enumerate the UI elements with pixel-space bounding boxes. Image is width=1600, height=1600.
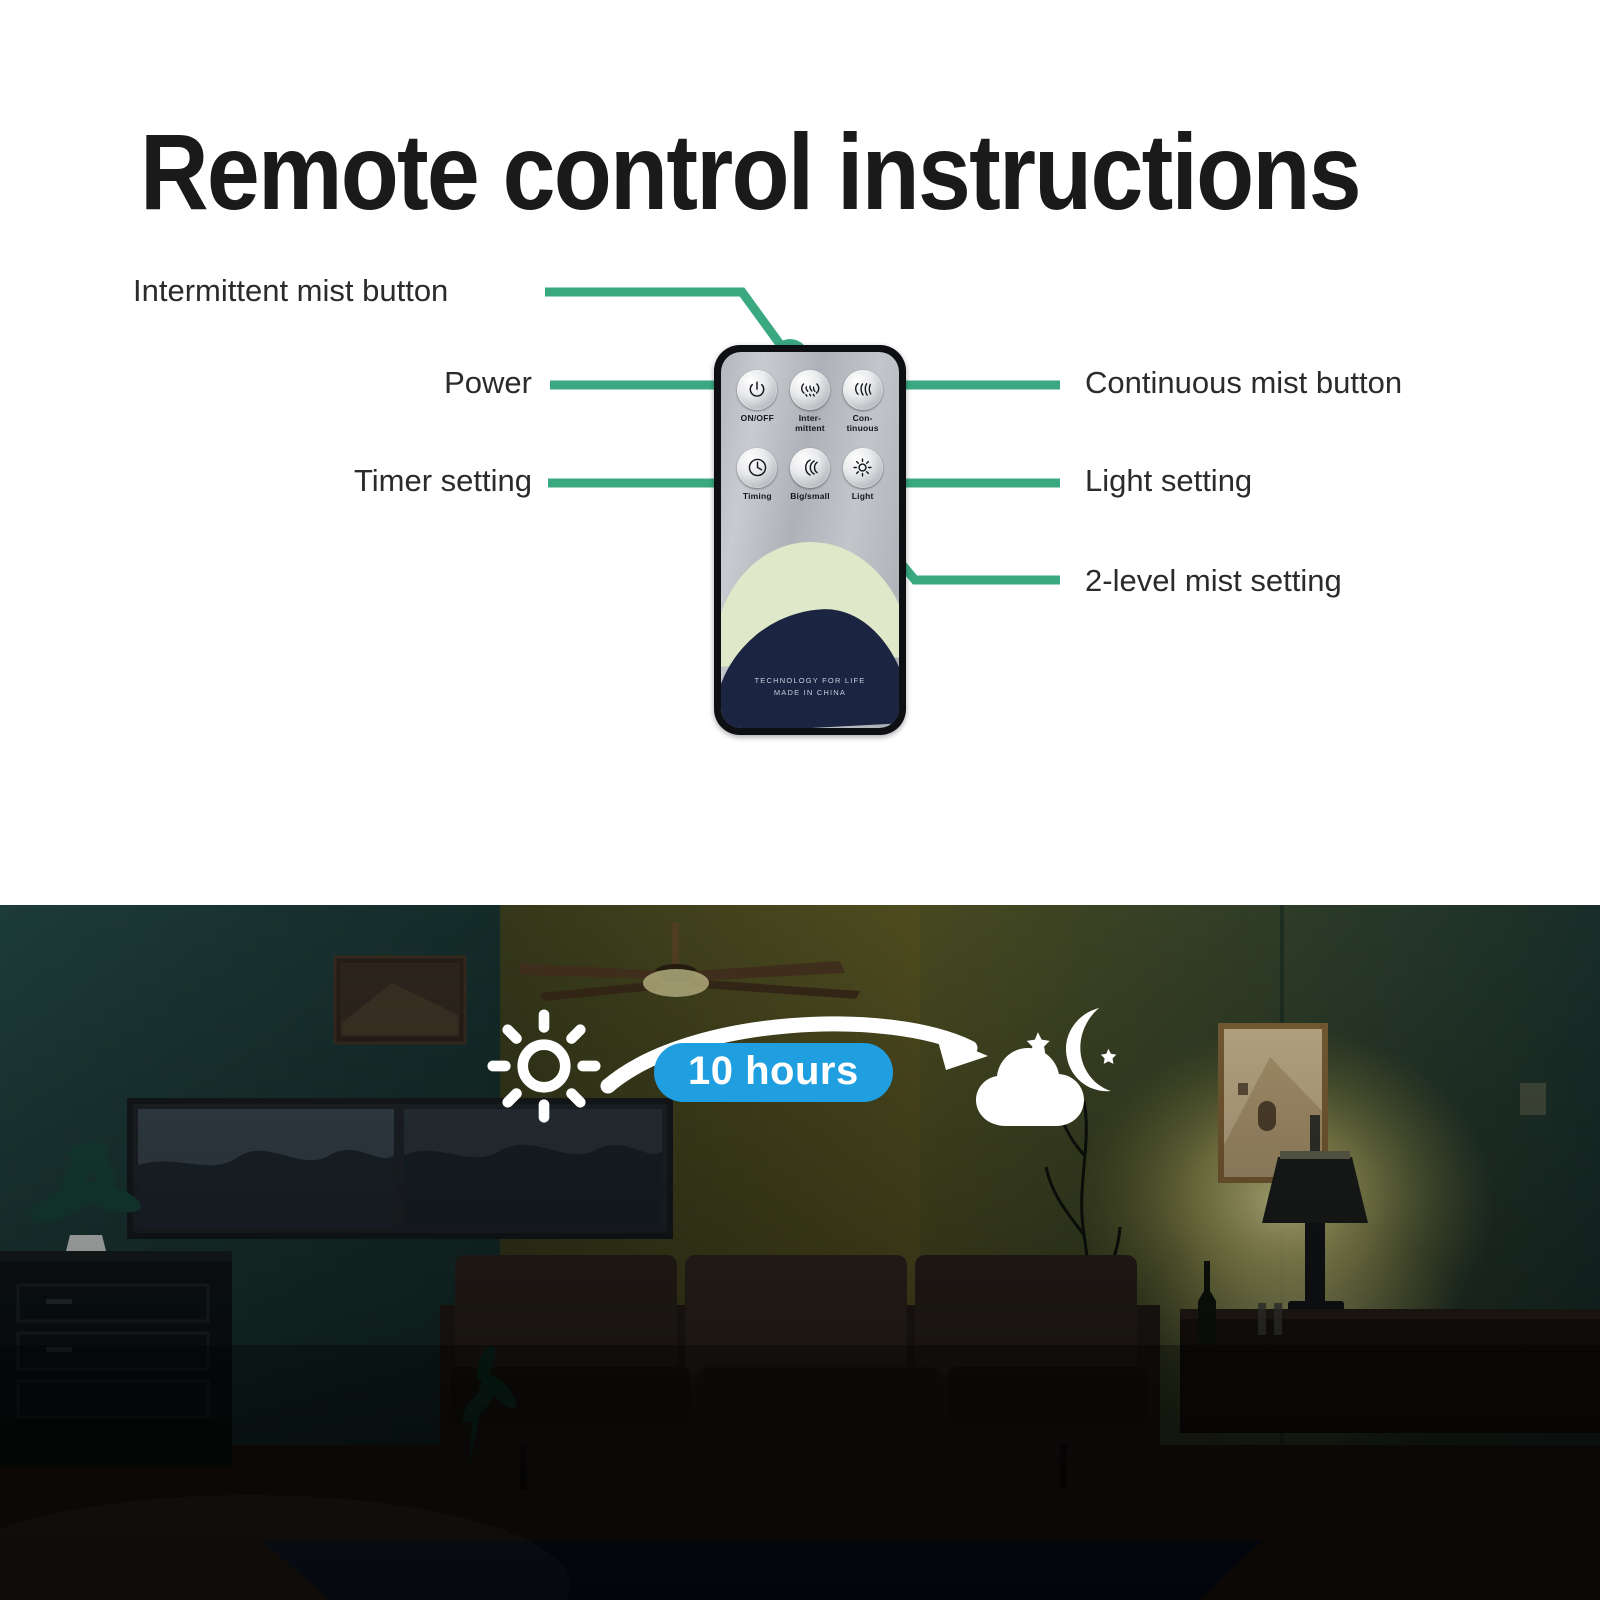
- remote-footer-line-1: TECHNOLOGY FOR LIFE: [721, 675, 899, 688]
- remote-button-power[interactable]: ON/OFF: [731, 370, 783, 434]
- remote-instructions-section: Remote control instructions: [0, 0, 1600, 905]
- remote-button-intermittent[interactable]: Inter-mittent: [784, 370, 836, 434]
- moon-cloud-stars-icon: [966, 1000, 1126, 1135]
- remote-button-caption: Inter-mittent: [784, 414, 836, 434]
- mist-level-icon: [790, 448, 830, 488]
- continuous-mist-icon: [843, 370, 883, 410]
- remote-button-caption: Light: [837, 492, 889, 502]
- power-icon: [737, 370, 777, 410]
- lifestyle-photo-section: 10 hours Longlasting presence 300ml capa…: [0, 905, 1600, 1600]
- remote-footer-line-2: MADE IN CHINA: [721, 687, 899, 700]
- remote-button-caption: Big/small: [784, 492, 836, 502]
- callout-label-light-setting: Light setting: [1085, 463, 1252, 499]
- sun-icon: [486, 1008, 602, 1129]
- remote-button-timing[interactable]: Timing: [731, 448, 783, 502]
- remote-button-row-top: ON/OFF: [731, 370, 889, 434]
- callout-label-power: Power: [300, 365, 532, 401]
- duration-badge: 10 hours: [654, 1043, 893, 1102]
- remote-faceplate: ON/OFF: [721, 352, 899, 728]
- remote-button-light[interactable]: Light: [837, 448, 889, 502]
- remote-button-row-bottom: Timing Big/small: [731, 448, 889, 502]
- remote-button-mist-level[interactable]: Big/small: [784, 448, 836, 502]
- callout-label-timer-setting: Timer setting: [250, 463, 532, 499]
- remote-footer-text: TECHNOLOGY FOR LIFE MADE IN CHINA: [721, 675, 899, 701]
- remote-button-grid: ON/OFF: [731, 370, 889, 515]
- intermittent-mist-icon: [790, 370, 830, 410]
- product-infographic-page: Remote control instructions: [0, 0, 1600, 1600]
- callout-label-intermittent-mist: Intermittent mist button: [133, 273, 448, 309]
- sun-icon: [843, 448, 883, 488]
- callout-label-continuous-mist: Continuous mist button: [1085, 365, 1402, 401]
- photo-text-overlay: 10 hours Longlasting presence 300ml capa…: [0, 905, 1600, 1600]
- remote-button-caption: ON/OFF: [731, 414, 783, 424]
- remote-button-caption: Timing: [731, 492, 783, 502]
- clock-icon: [737, 448, 777, 488]
- callout-label-2-level-mist: 2-level mist setting: [1085, 563, 1342, 599]
- remote-button-caption: Con-tinuous: [837, 414, 889, 434]
- remote-button-continuous[interactable]: Con-tinuous: [837, 370, 889, 434]
- remote-control-device: ON/OFF: [714, 345, 906, 735]
